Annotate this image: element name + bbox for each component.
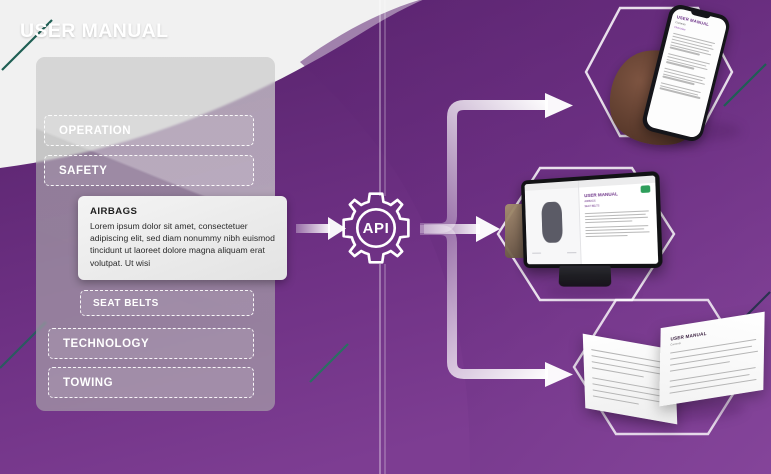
- pane-toolbar: [525, 181, 578, 191]
- api-hub[interactable]: API: [337, 189, 415, 267]
- status-badge: [641, 185, 651, 193]
- text-line: [585, 216, 649, 220]
- car-display-output[interactable]: USER MANUAL AIRBAGS SEAT BELTS: [495, 166, 679, 298]
- menu-item-label: SEAT BELTS: [81, 298, 159, 309]
- airbags-title: AIRBAGS: [90, 206, 276, 217]
- text-line: [586, 235, 628, 237]
- menu-item-label: SAFETY: [45, 165, 107, 177]
- book-right-page: USER MANUAL Contents: [659, 312, 764, 407]
- mobile-phone-output[interactable]: USER MANUAL Contents Overview: [585, 2, 771, 146]
- car-manual-pane: USER MANUAL AIRBAGS SEAT BELTS: [579, 175, 658, 264]
- menu-item-label: TECHNOLOGY: [49, 338, 149, 350]
- menu-item-technology[interactable]: TECHNOLOGY: [48, 328, 254, 359]
- menu-item-label: TOWING: [49, 377, 113, 389]
- printed-book-output[interactable]: USER MANUAL Contents: [572, 300, 771, 434]
- gear-icon: [337, 189, 415, 267]
- menu-item-safety[interactable]: SAFETY: [44, 155, 254, 186]
- phone-screen: USER MANUAL Contents Overview: [645, 7, 728, 139]
- airbags-body-text: Lorem ipsum dolor sit amet, consectetuer…: [90, 220, 276, 269]
- text-line: [585, 231, 649, 234]
- api-spine-line-top: [376, 0, 390, 200]
- book-page-title: USER MANUAL: [670, 331, 706, 342]
- api-spine-line-bottom: [376, 262, 390, 474]
- infographic-canvas: USER MANUAL OPERATION SAFETY SEAT BELTS …: [0, 0, 771, 474]
- page-title: USER MANUAL: [20, 22, 168, 42]
- menu-item-label: OPERATION: [45, 125, 131, 137]
- car-vehicle-diagram-pane: [525, 181, 582, 265]
- text-line: [585, 220, 632, 223]
- menu-item-towing[interactable]: TOWING: [48, 367, 254, 398]
- vehicle-top-view-icon: [541, 201, 563, 243]
- airbags-callout-card[interactable]: AIRBAGS Lorem ipsum dolor sit amet, cons…: [78, 196, 287, 280]
- menu-item-seat-belts[interactable]: SEAT BELTS: [80, 290, 254, 316]
- car-screen-link: SEAT BELTS: [584, 202, 650, 208]
- book-page-subtitle: Contents: [670, 342, 680, 347]
- menu-item-operation[interactable]: OPERATION: [44, 115, 254, 146]
- car-screen-icon: USER MANUAL AIRBAGS SEAT BELTS: [521, 171, 663, 268]
- diagonal-accent-bottom-center: [310, 340, 356, 386]
